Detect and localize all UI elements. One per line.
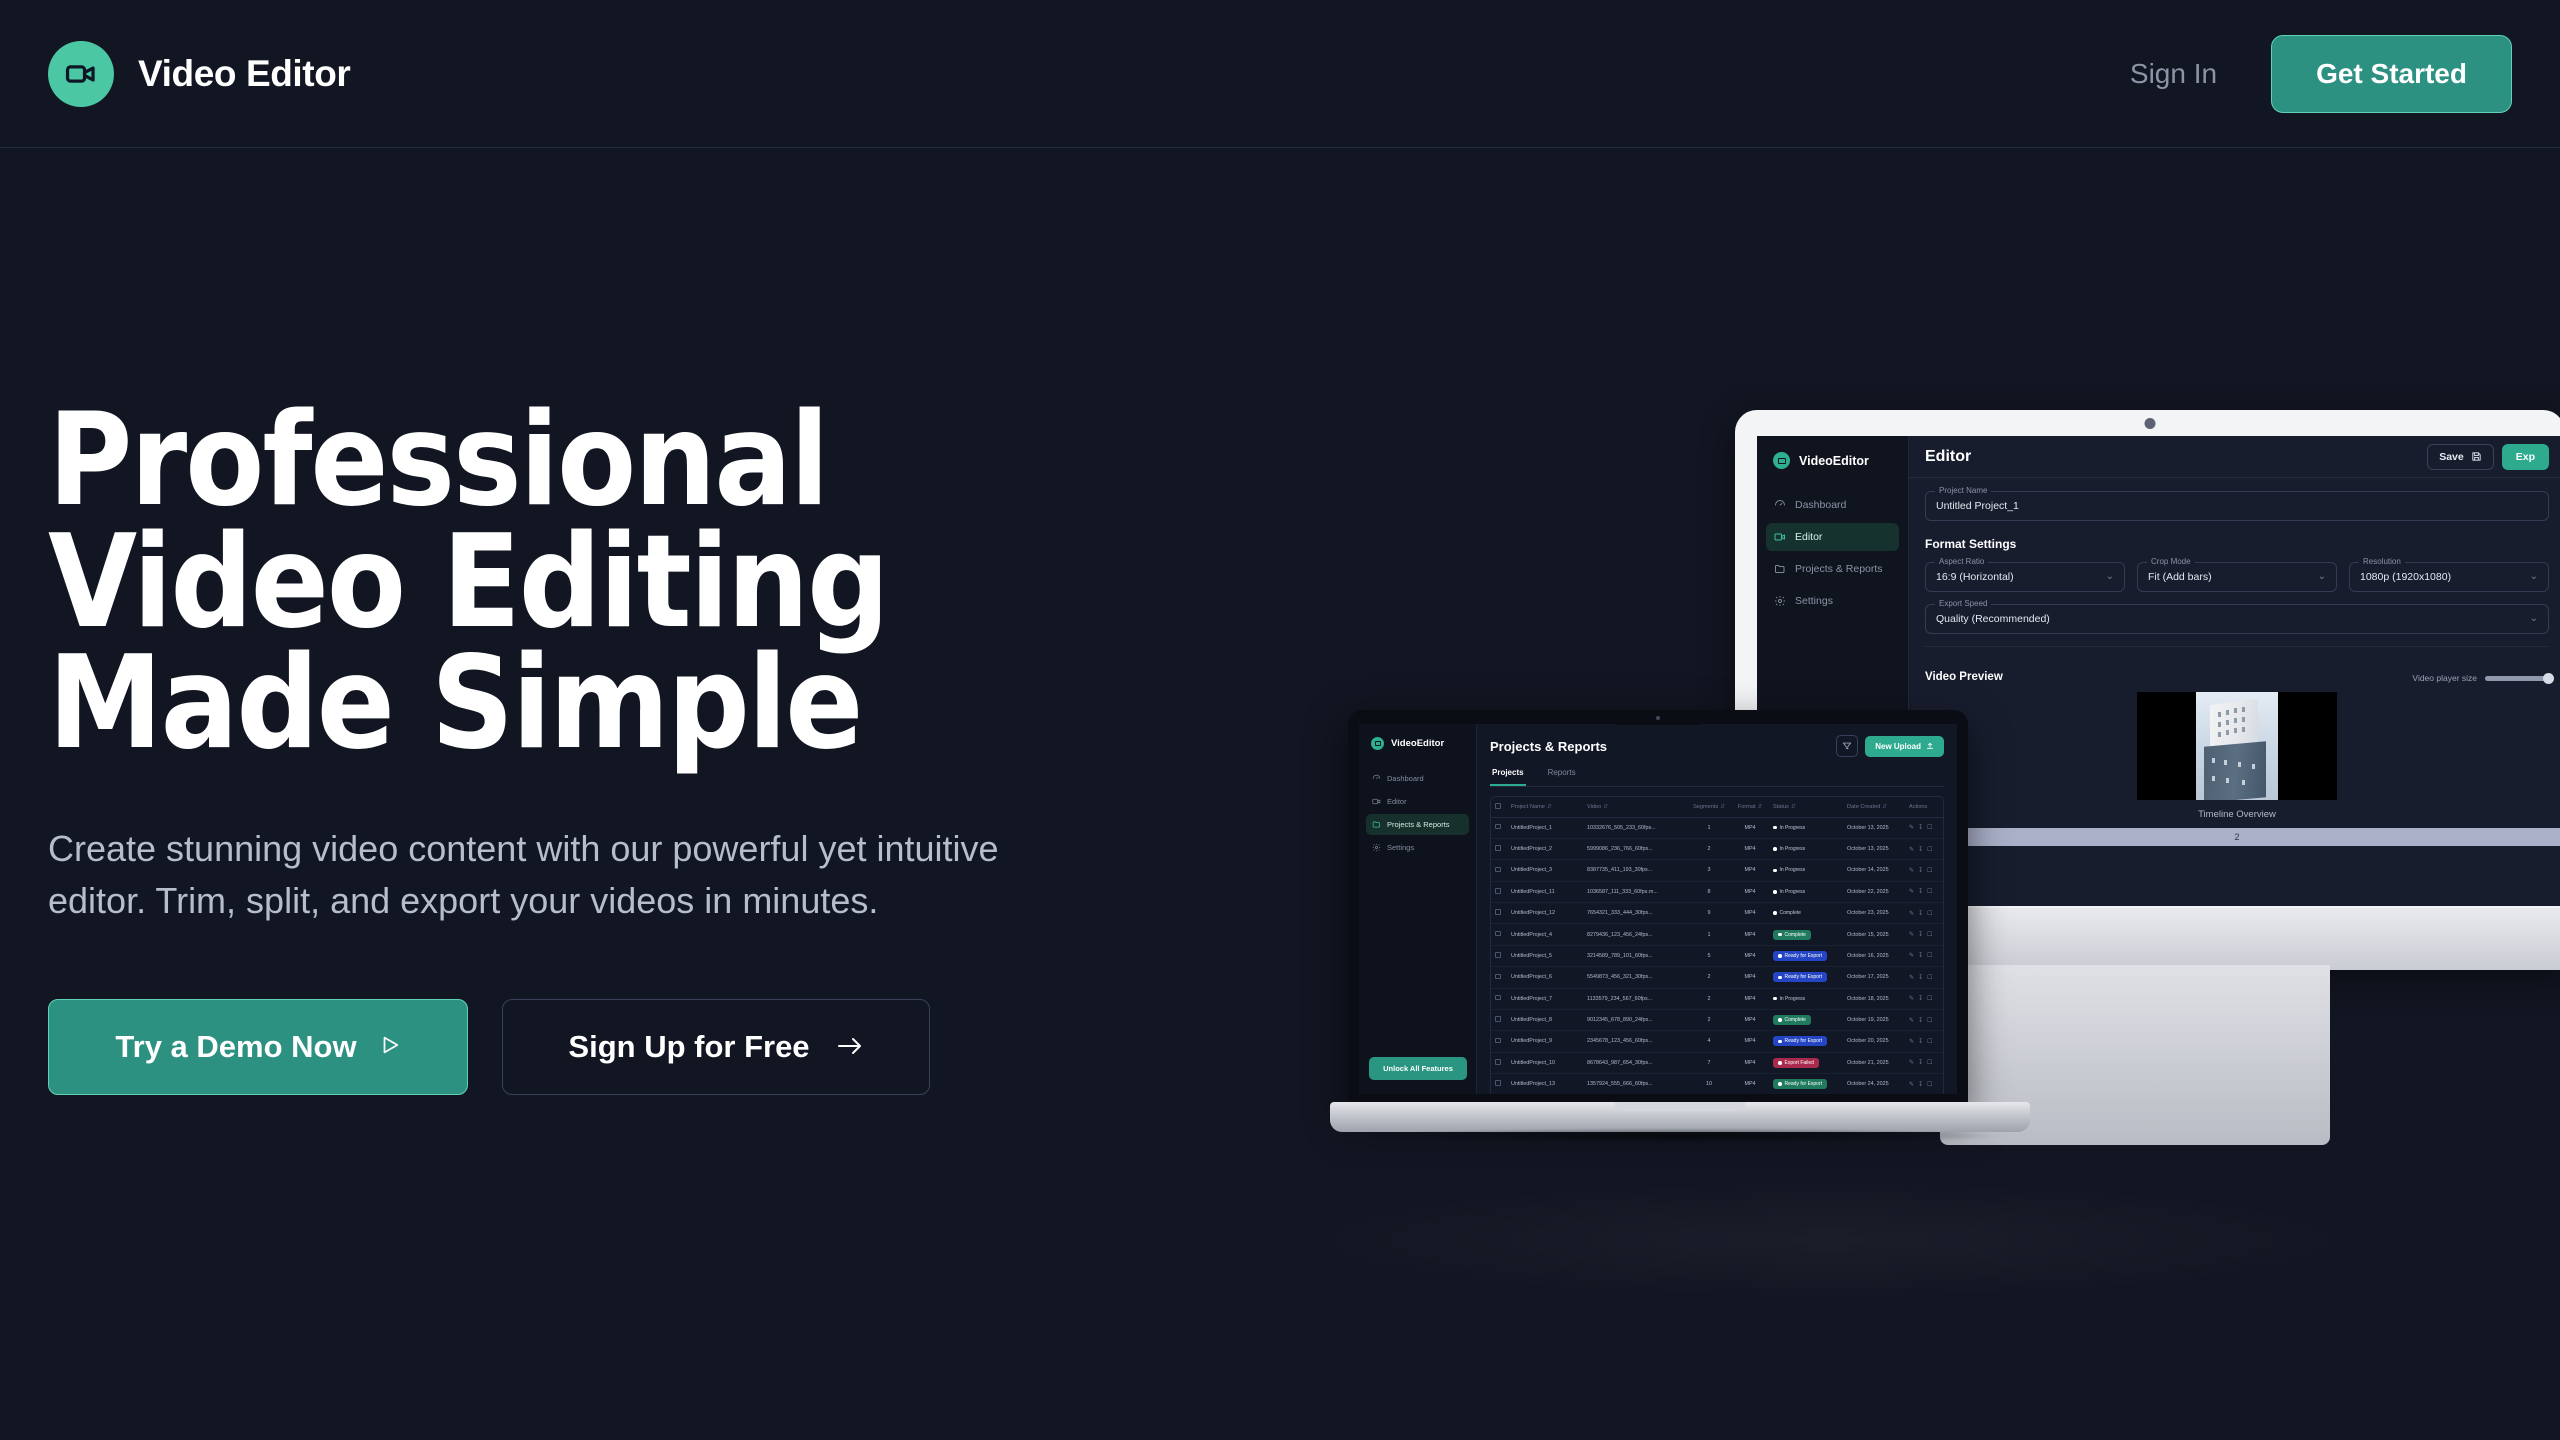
cell-format: MP4 bbox=[1731, 1031, 1769, 1052]
table-row[interactable]: UntitledProject_110332676_505_233_60fps.… bbox=[1491, 817, 1944, 838]
cell-project-name: UntitledProject_11 bbox=[1507, 881, 1583, 902]
chevron-down-icon: ⌄ bbox=[2530, 572, 2538, 582]
status-badge: In Progress bbox=[1773, 994, 1810, 1004]
resolution-select[interactable]: Resolution 1080p (1920x1080) ⌄ bbox=[2349, 562, 2549, 592]
cell-video: 8387735_411_193_30fps... bbox=[1583, 860, 1687, 881]
cell-status: Ready for Export bbox=[1769, 945, 1843, 966]
cell-project-name: UntitledProject_12 bbox=[1507, 903, 1583, 924]
sidebar-item-projects-reports[interactable]: Projects & Reports bbox=[1366, 814, 1469, 835]
cell-video: 1357924_555_666_60fps... bbox=[1583, 1074, 1687, 1095]
cell-actions[interactable]: ✎↧☐ bbox=[1905, 988, 1944, 1009]
resolution-label: Resolution bbox=[2359, 557, 2405, 566]
crop-mode-value: Fit (Add bars) bbox=[2148, 571, 2212, 583]
cell-format: MP4 bbox=[1731, 988, 1769, 1009]
edit-icon: ✎ bbox=[1909, 1081, 1914, 1088]
video-camera-icon bbox=[1774, 531, 1786, 543]
sidebar-label-dashboard: Dashboard bbox=[1387, 774, 1424, 783]
cell-project-name: UntitledProject_8 bbox=[1507, 1009, 1583, 1030]
projects-header-buttons: New Upload bbox=[1836, 735, 1944, 757]
cell-project-name: UntitledProject_13 bbox=[1507, 1074, 1583, 1095]
cell-status: Ready for Export bbox=[1769, 967, 1843, 988]
aspect-ratio-label: Aspect Ratio bbox=[1935, 557, 1988, 566]
cell-status: Export Failed bbox=[1769, 1052, 1843, 1073]
sign-in-link[interactable]: Sign In bbox=[2130, 58, 2217, 90]
editor-top-buttons: Save Exp bbox=[2427, 444, 2549, 470]
status-badge: Complete bbox=[1773, 908, 1806, 918]
sign-up-button[interactable]: Sign Up for Free bbox=[502, 999, 930, 1095]
cell-project-name: UntitledProject_9 bbox=[1507, 1031, 1583, 1052]
save-button[interactable]: Save bbox=[2427, 444, 2494, 470]
row-checkbox[interactable] bbox=[1491, 817, 1507, 838]
edit-icon: ✎ bbox=[1909, 1059, 1914, 1066]
status-badge: Complete bbox=[1773, 1015, 1811, 1025]
export-speed-value: Quality (Recommended) bbox=[1936, 613, 2050, 625]
cell-segments: 2 bbox=[1687, 838, 1731, 859]
hero-section: Professional Video Editing Made Simple C… bbox=[48, 400, 1168, 1095]
cell-date-created: October 17, 2025 bbox=[1843, 967, 1905, 988]
status-badge: In Progress bbox=[1773, 865, 1810, 875]
cell-date-created: October 13, 2025 bbox=[1843, 838, 1905, 859]
cell-actions[interactable]: ✎↧☐ bbox=[1905, 967, 1944, 988]
brand-name: Video Editor bbox=[138, 53, 350, 95]
projects-tabs: Projects Reports bbox=[1490, 768, 1944, 787]
projects-app: VideoEditor Dashboard Editor bbox=[1359, 724, 1957, 1094]
cell-segments: 5 bbox=[1687, 945, 1731, 966]
checkbox-icon[interactable] bbox=[1495, 803, 1501, 809]
cell-date-created: October 13, 2025 bbox=[1843, 817, 1905, 838]
edit-icon: ✎ bbox=[1909, 1017, 1914, 1024]
cell-date-created: October 23, 2025 bbox=[1843, 903, 1905, 924]
status-badge: In Progress bbox=[1773, 887, 1810, 897]
cell-format: MP4 bbox=[1731, 860, 1769, 881]
sidebar-item-projects-reports[interactable]: Projects & Reports bbox=[1766, 555, 1899, 583]
hero-subtitle-line-2: editor. Trim, split, and export your vid… bbox=[48, 875, 1118, 927]
sort-icon: ⇵ bbox=[1758, 804, 1763, 810]
player-size-slider[interactable] bbox=[2485, 676, 2549, 681]
save-label: Save bbox=[2439, 451, 2464, 463]
video-camera-icon bbox=[1773, 452, 1790, 469]
status-badge: Ready for Export bbox=[1773, 1079, 1827, 1089]
editor-brand-name: VideoEditor bbox=[1799, 454, 1869, 468]
edit-icon: ✎ bbox=[1909, 910, 1914, 917]
download-icon: ↧ bbox=[1918, 846, 1923, 853]
edit-icon: ✎ bbox=[1909, 1038, 1914, 1045]
sort-icon: ⇵ bbox=[1882, 804, 1887, 810]
status-badge: In Progress bbox=[1773, 844, 1810, 854]
cell-project-name: UntitledProject_5 bbox=[1507, 945, 1583, 966]
cell-video: 3214589_789_101_60fps... bbox=[1583, 945, 1687, 966]
crop-mode-label: Crop Mode bbox=[2147, 557, 2195, 566]
cell-video: 5999086_236_766_60fps... bbox=[1583, 838, 1687, 859]
cell-date-created: October 15, 2025 bbox=[1843, 924, 1905, 945]
cell-segments: 2 bbox=[1687, 967, 1731, 988]
cell-video: 8678643_987_654_30fps... bbox=[1583, 1052, 1687, 1073]
col-project-name[interactable]: Project Name⇵ bbox=[1507, 797, 1583, 817]
hero-cta-group: Try a Demo Now Sign Up for Free bbox=[48, 999, 1168, 1095]
row-checkbox[interactable] bbox=[1491, 1031, 1507, 1052]
row-checkbox[interactable] bbox=[1491, 860, 1507, 881]
cell-format: MP4 bbox=[1731, 1052, 1769, 1073]
hero-title-line-2: Video Editing bbox=[48, 522, 1168, 644]
export-label: Exp bbox=[2516, 451, 2535, 463]
cell-status: In Progress bbox=[1769, 988, 1843, 1009]
format-row-2: Export Speed Quality (Recommended) ⌄ bbox=[1925, 604, 2549, 634]
site-header: Video Editor Sign In Get Started bbox=[0, 0, 2560, 148]
table-row[interactable]: UntitledProject_71133579_234_567_60fps..… bbox=[1491, 988, 1944, 1009]
upload-icon bbox=[1926, 742, 1934, 750]
editor-nav: Dashboard Editor Projects & Reports bbox=[1757, 491, 1908, 615]
resolution-value: 1080p (1920x1080) bbox=[2360, 571, 2451, 583]
cell-video: 9012345_678_890_24fps... bbox=[1583, 1009, 1687, 1030]
delete-icon: ☐ bbox=[1927, 1081, 1932, 1088]
table-row[interactable]: UntitledProject_92345678_123_456_60fps..… bbox=[1491, 1031, 1944, 1052]
projects-brand-name: VideoEditor bbox=[1391, 738, 1444, 749]
table-row[interactable]: UntitledProject_53214589_789_101_60fps..… bbox=[1491, 945, 1944, 966]
arrow-right-icon bbox=[836, 1029, 864, 1065]
cell-project-name: UntitledProject_6 bbox=[1507, 967, 1583, 988]
cell-segments: 1 bbox=[1687, 924, 1731, 945]
cell-date-created: October 22, 2025 bbox=[1843, 881, 1905, 902]
cell-video: 1036587_111_333_60fps.m... bbox=[1583, 881, 1687, 902]
cell-format: MP4 bbox=[1731, 1009, 1769, 1030]
laptop-screen: VideoEditor Dashboard Editor bbox=[1359, 724, 1957, 1094]
status-badge: Ready for Export bbox=[1773, 951, 1827, 961]
cell-status: Ready for Export bbox=[1769, 1074, 1843, 1095]
row-checkbox[interactable] bbox=[1491, 838, 1507, 859]
sidebar-item-settings[interactable]: Settings bbox=[1366, 837, 1469, 858]
col-video[interactable]: Video⇵ bbox=[1583, 797, 1687, 817]
cell-project-name: UntitledProject_2 bbox=[1507, 838, 1583, 859]
player-size-label: Video player size bbox=[2412, 673, 2477, 683]
webcam-icon bbox=[2145, 418, 2156, 429]
cell-status: In Progress bbox=[1769, 881, 1843, 902]
divider bbox=[1925, 646, 2549, 647]
cell-actions[interactable]: ✎↧☐ bbox=[1905, 1009, 1944, 1030]
sort-icon: ⇵ bbox=[1603, 804, 1608, 810]
cell-project-name: UntitledProject_7 bbox=[1507, 988, 1583, 1009]
cell-status: In Progress bbox=[1769, 860, 1843, 881]
table-row[interactable]: UntitledProject_127654321_333_444_30fps.… bbox=[1491, 903, 1944, 924]
header-actions: Sign In Get Started bbox=[2130, 35, 2512, 113]
try-demo-button[interactable]: Try a Demo Now bbox=[48, 999, 468, 1095]
cell-date-created: October 21, 2025 bbox=[1843, 1052, 1905, 1073]
chevron-down-icon: ⌄ bbox=[2106, 572, 2114, 582]
edit-icon: ✎ bbox=[1909, 952, 1914, 959]
projects-page-title: Projects & Reports bbox=[1490, 739, 1607, 754]
projects-table: Project Name⇵ Video⇵ Segments⇵ Format⇵ S… bbox=[1490, 796, 1944, 1094]
hero-subtitle-line-1: Create stunning video content with our p… bbox=[48, 823, 1118, 875]
table-row[interactable]: UntitledProject_48279436_123_456_24fps..… bbox=[1491, 924, 1944, 945]
editor-body: Project Name Untitled Project_1 Format S… bbox=[1909, 478, 2560, 660]
editor-topbar: Editor Save Exp bbox=[1909, 436, 2560, 478]
table-row[interactable]: UntitledProject_65549873_456_321_30fps..… bbox=[1491, 967, 1944, 988]
cell-segments: 1 bbox=[1687, 817, 1731, 838]
tab-reports[interactable]: Reports bbox=[1546, 768, 1578, 786]
cell-status: In Progress bbox=[1769, 817, 1843, 838]
aspect-ratio-value: 16:9 (Horizontal) bbox=[1936, 571, 2014, 583]
cell-video: 2345678_123_456_60fps... bbox=[1583, 1031, 1687, 1052]
cell-video: 1133579_234_567_60fps... bbox=[1583, 988, 1687, 1009]
cell-actions[interactable]: ✎↧☐ bbox=[1905, 838, 1944, 859]
edit-icon: ✎ bbox=[1909, 974, 1914, 981]
format-settings-heading: Format Settings bbox=[1925, 537, 2549, 551]
projects-nav: Dashboard Editor Projects & Reports bbox=[1359, 768, 1476, 858]
cell-actions[interactable]: ✎↧☐ bbox=[1905, 881, 1944, 902]
table-row[interactable]: UntitledProject_111036587_111_333_60fps.… bbox=[1491, 881, 1944, 902]
row-checkbox[interactable] bbox=[1491, 924, 1507, 945]
hero-title-line-1: Professional bbox=[48, 400, 1168, 522]
row-checkbox[interactable] bbox=[1491, 967, 1507, 988]
sidebar-label-projects-reports: Projects & Reports bbox=[1795, 563, 1883, 575]
row-checkbox[interactable] bbox=[1491, 945, 1507, 966]
chevron-down-icon: ⌄ bbox=[2318, 572, 2326, 582]
try-demo-label: Try a Demo Now bbox=[115, 1029, 356, 1065]
edit-icon: ✎ bbox=[1909, 867, 1914, 874]
project-name-value: Untitled Project_1 bbox=[1936, 500, 2019, 512]
save-disk-icon bbox=[2471, 451, 2482, 462]
sidebar-item-editor[interactable]: Editor bbox=[1366, 791, 1469, 812]
download-icon: ↧ bbox=[1918, 1081, 1923, 1088]
edit-icon: ✎ bbox=[1909, 931, 1914, 938]
delete-icon: ☐ bbox=[1927, 952, 1932, 959]
sign-up-label: Sign Up for Free bbox=[568, 1029, 809, 1065]
cell-project-name: UntitledProject_10 bbox=[1507, 1052, 1583, 1073]
table-row[interactable]: UntitledProject_108678643_987_654_30fps.… bbox=[1491, 1052, 1944, 1073]
cell-actions[interactable]: ✎↧☐ bbox=[1905, 1031, 1944, 1052]
cell-date-created: October 14, 2025 bbox=[1843, 860, 1905, 881]
crop-mode-select[interactable]: Crop Mode Fit (Add bars) ⌄ bbox=[2137, 562, 2337, 592]
delete-icon: ☐ bbox=[1927, 1038, 1932, 1045]
delete-icon: ☐ bbox=[1927, 995, 1932, 1002]
cell-actions[interactable]: ✎↧☐ bbox=[1905, 860, 1944, 881]
sort-icon: ⇵ bbox=[1720, 804, 1725, 810]
cell-segments: 7 bbox=[1687, 1052, 1731, 1073]
cell-segments: 2 bbox=[1687, 988, 1731, 1009]
cell-date-created: October 16, 2025 bbox=[1843, 945, 1905, 966]
delete-icon: ☐ bbox=[1927, 888, 1932, 895]
projects-table-body: UntitledProject_110332676_505_233_60fps.… bbox=[1491, 817, 1944, 1094]
hero-subtitle: Create stunning video content with our p… bbox=[48, 823, 1118, 927]
filter-icon bbox=[1842, 741, 1852, 751]
sidebar-label-settings: Settings bbox=[1795, 595, 1833, 607]
cell-video: 10332676_505_233_60fps... bbox=[1583, 817, 1687, 838]
product-mockup-stage: VideoEditor Dashboard Editor bbox=[1330, 380, 2560, 1200]
col-actions: Actions bbox=[1905, 797, 1944, 817]
gauge-icon bbox=[1774, 499, 1786, 511]
folder-icon bbox=[1774, 563, 1786, 575]
laptop-lip bbox=[1615, 1102, 1745, 1111]
cell-actions[interactable]: ✎↧☐ bbox=[1905, 924, 1944, 945]
delete-icon: ☐ bbox=[1927, 974, 1932, 981]
folder-icon bbox=[1372, 820, 1381, 829]
cell-segments: 8 bbox=[1687, 881, 1731, 902]
row-checkbox[interactable] bbox=[1491, 1052, 1507, 1073]
cell-date-created: October 18, 2025 bbox=[1843, 988, 1905, 1009]
row-checkbox[interactable] bbox=[1491, 988, 1507, 1009]
cell-segments: 10 bbox=[1687, 1074, 1731, 1095]
cell-segments: 9 bbox=[1687, 903, 1731, 924]
cell-status: Complete bbox=[1769, 924, 1843, 945]
projects-header: Projects & Reports New Upload bbox=[1490, 735, 1944, 757]
download-icon: ↧ bbox=[1918, 974, 1923, 981]
project-name-field[interactable]: Project Name Untitled Project_1 bbox=[1925, 491, 2549, 521]
delete-icon: ☐ bbox=[1927, 824, 1932, 831]
col-date-created[interactable]: Date Created⇵ bbox=[1843, 797, 1905, 817]
video-camera-icon bbox=[48, 41, 114, 107]
get-started-button[interactable]: Get Started bbox=[2271, 35, 2512, 113]
projects-main: Projects & Reports New Upload bbox=[1477, 724, 1957, 1094]
video-preview-header: Video Preview Video player size bbox=[1909, 660, 2560, 683]
project-name-label: Project Name bbox=[1935, 486, 1991, 495]
new-upload-label: New Upload bbox=[1875, 742, 1921, 751]
filter-button[interactable] bbox=[1836, 735, 1858, 757]
table-row[interactable]: UntitledProject_38387735_411_193_30fps..… bbox=[1491, 860, 1944, 881]
cell-actions[interactable]: ✎↧☐ bbox=[1905, 1052, 1944, 1073]
delete-icon: ☐ bbox=[1927, 1059, 1932, 1066]
sidebar-label-dashboard: Dashboard bbox=[1795, 499, 1846, 511]
cell-actions[interactable]: ✎↧☐ bbox=[1905, 945, 1944, 966]
col-format[interactable]: Format⇵ bbox=[1731, 797, 1769, 817]
download-icon: ↧ bbox=[1918, 931, 1923, 938]
gauge-icon bbox=[1372, 774, 1381, 783]
download-icon: ↧ bbox=[1918, 1059, 1923, 1066]
status-badge: Complete bbox=[1773, 930, 1811, 940]
export-button[interactable]: Exp bbox=[2502, 444, 2549, 470]
download-icon: ↧ bbox=[1918, 910, 1923, 917]
cell-status: Complete bbox=[1769, 1009, 1843, 1030]
laptop-lid: VideoEditor Dashboard Editor bbox=[1348, 710, 1968, 1108]
video-player[interactable] bbox=[2137, 692, 2337, 800]
download-icon: ↧ bbox=[1918, 867, 1923, 874]
cell-status: Ready for Export bbox=[1769, 1031, 1843, 1052]
cell-format: MP4 bbox=[1731, 838, 1769, 859]
sidebar-item-editor[interactable]: Editor bbox=[1766, 523, 1899, 551]
sidebar-item-settings[interactable]: Settings bbox=[1766, 587, 1899, 615]
tab-projects[interactable]: Projects bbox=[1490, 768, 1526, 786]
sidebar-item-dashboard[interactable]: Dashboard bbox=[1766, 491, 1899, 519]
sidebar-label-editor: Editor bbox=[1795, 531, 1822, 543]
status-badge: Ready for Export bbox=[1773, 1036, 1827, 1046]
cell-video: 7654321_333_444_30fps... bbox=[1583, 903, 1687, 924]
sidebar-label-projects-reports: Projects & Reports bbox=[1387, 820, 1450, 829]
col-segments[interactable]: Segments⇵ bbox=[1687, 797, 1731, 817]
cell-project-name: UntitledProject_3 bbox=[1507, 860, 1583, 881]
unlock-all-features-button[interactable]: Unlock All Features bbox=[1369, 1057, 1467, 1080]
delete-icon: ☐ bbox=[1927, 867, 1932, 874]
cell-status: Complete bbox=[1769, 903, 1843, 924]
brand-logo[interactable]: Video Editor bbox=[48, 41, 350, 107]
laptop-mockup: VideoEditor Dashboard Editor bbox=[1330, 710, 2030, 1170]
projects-sidebar: VideoEditor Dashboard Editor bbox=[1359, 724, 1477, 1094]
export-speed-label: Export Speed bbox=[1935, 599, 1991, 608]
cell-actions[interactable]: ✎↧☐ bbox=[1905, 817, 1944, 838]
new-upload-button[interactable]: New Upload bbox=[1865, 736, 1944, 757]
cell-format: MP4 bbox=[1731, 924, 1769, 945]
chevron-down-icon: ⌄ bbox=[2530, 614, 2538, 624]
table-row[interactable]: UntitledProject_131357924_555_666_60fps.… bbox=[1491, 1074, 1944, 1095]
table-row[interactable]: UntitledProject_25999086_236_766_60fps..… bbox=[1491, 838, 1944, 859]
sort-icon: ⇵ bbox=[1547, 804, 1552, 810]
table-row[interactable]: UntitledProject_89012345_678_890_24fps..… bbox=[1491, 1009, 1944, 1030]
cell-segments: 3 bbox=[1687, 860, 1731, 881]
gear-icon bbox=[1372, 843, 1381, 852]
video-frame-building-photo bbox=[2196, 692, 2278, 800]
download-icon: ↧ bbox=[1918, 995, 1923, 1002]
download-icon: ↧ bbox=[1918, 1017, 1923, 1024]
projects-brand: VideoEditor bbox=[1359, 737, 1476, 768]
delete-icon: ☐ bbox=[1927, 910, 1932, 917]
edit-icon: ✎ bbox=[1909, 824, 1914, 831]
status-badge: Ready for Export bbox=[1773, 972, 1827, 982]
delete-icon: ☐ bbox=[1927, 1017, 1932, 1024]
page-title: Professional Video Editing Made Simple bbox=[48, 400, 1168, 765]
cell-project-name: UntitledProject_4 bbox=[1507, 924, 1583, 945]
cell-format: MP4 bbox=[1731, 903, 1769, 924]
cell-actions[interactable]: ✎↧☐ bbox=[1905, 1074, 1944, 1095]
download-icon: ↧ bbox=[1918, 888, 1923, 895]
cell-status: In Progress bbox=[1769, 838, 1843, 859]
cell-project-name: UntitledProject_1 bbox=[1507, 817, 1583, 838]
play-icon bbox=[379, 1029, 401, 1065]
sidebar-label-settings: Settings bbox=[1387, 843, 1414, 852]
download-icon: ↧ bbox=[1918, 952, 1923, 959]
player-size-control[interactable]: Video player size bbox=[2412, 673, 2549, 683]
status-badge: In Progress bbox=[1773, 823, 1810, 833]
editor-page-title: Editor bbox=[1925, 448, 1971, 466]
status-badge: Export Failed bbox=[1773, 1058, 1819, 1068]
video-preview-title: Video Preview bbox=[1925, 671, 2003, 683]
edit-icon: ✎ bbox=[1909, 846, 1914, 853]
laptop-shadow bbox=[1360, 1128, 2000, 1144]
gear-icon bbox=[1774, 595, 1786, 607]
timeline-caption: Timeline Overview bbox=[2198, 809, 2276, 820]
hero-title-line-3: Made Simple bbox=[48, 643, 1168, 765]
cell-video: 8279436_123_456_24fps... bbox=[1583, 924, 1687, 945]
cell-date-created: October 19, 2025 bbox=[1843, 1009, 1905, 1030]
editor-brand: VideoEditor bbox=[1757, 452, 1908, 491]
edit-icon: ✎ bbox=[1909, 995, 1914, 1002]
row-checkbox[interactable] bbox=[1491, 881, 1507, 902]
row-checkbox[interactable] bbox=[1491, 1074, 1507, 1095]
col-status[interactable]: Status⇵ bbox=[1769, 797, 1843, 817]
video-camera-icon bbox=[1372, 797, 1381, 806]
sidebar-item-dashboard[interactable]: Dashboard bbox=[1366, 768, 1469, 789]
sort-icon: ⇵ bbox=[1791, 804, 1796, 810]
delete-icon: ☐ bbox=[1927, 846, 1932, 853]
download-icon: ↧ bbox=[1918, 824, 1923, 831]
table-header-row: Project Name⇵ Video⇵ Segments⇵ Format⇵ S… bbox=[1491, 797, 1944, 817]
cell-date-created: October 20, 2025 bbox=[1843, 1031, 1905, 1052]
cell-format: MP4 bbox=[1731, 881, 1769, 902]
row-checkbox[interactable] bbox=[1491, 1009, 1507, 1030]
aspect-ratio-select[interactable]: Aspect Ratio 16:9 (Horizontal) ⌄ bbox=[1925, 562, 2125, 592]
row-checkbox[interactable] bbox=[1491, 903, 1507, 924]
export-speed-select[interactable]: Export Speed Quality (Recommended) ⌄ bbox=[1925, 604, 2549, 634]
cell-actions[interactable]: ✎↧☐ bbox=[1905, 903, 1944, 924]
select-all-header[interactable] bbox=[1491, 797, 1507, 817]
cell-segments: 4 bbox=[1687, 1031, 1731, 1052]
cell-segments: 2 bbox=[1687, 1009, 1731, 1030]
delete-icon: ☐ bbox=[1927, 931, 1932, 938]
cell-date-created: October 24, 2025 bbox=[1843, 1074, 1905, 1095]
cell-format: MP4 bbox=[1731, 967, 1769, 988]
sidebar-label-editor: Editor bbox=[1387, 797, 1407, 806]
cell-video: 5549873_456_321_30fps... bbox=[1583, 967, 1687, 988]
cell-format: MP4 bbox=[1731, 945, 1769, 966]
laptop-notch bbox=[1610, 710, 1706, 725]
edit-icon: ✎ bbox=[1909, 888, 1914, 895]
format-row-1: Aspect Ratio 16:9 (Horizontal) ⌄ Crop Mo… bbox=[1925, 562, 2549, 592]
